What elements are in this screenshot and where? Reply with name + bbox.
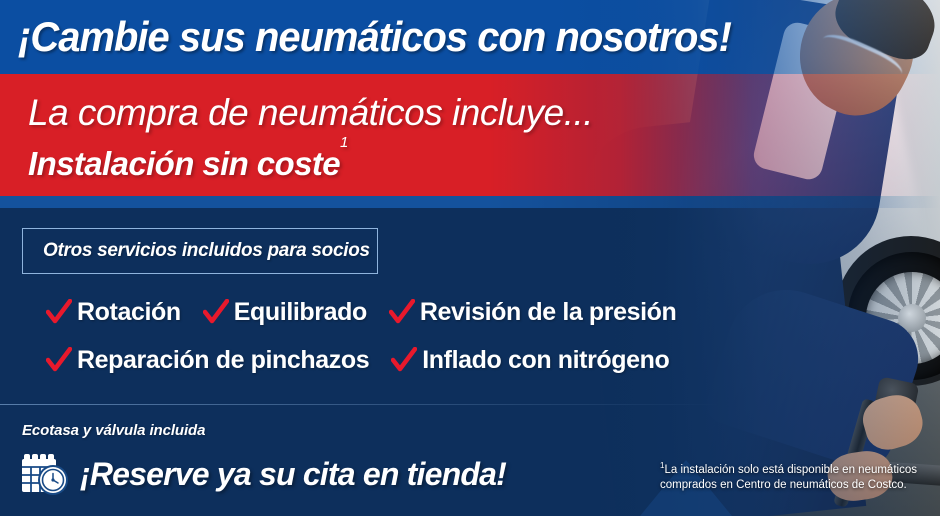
list-item-label: Inflado con nitrógeno (422, 346, 669, 375)
list-item-label: Rotación (77, 298, 181, 327)
offer-footnote-marker: 1 (340, 134, 348, 151)
offer-main-label: Instalación sin coste (28, 145, 340, 182)
page-title: ¡Cambie sus neumáticos con nosotros! (18, 12, 731, 62)
list-item-label: Revisión de la presión (420, 298, 677, 327)
list-item: Inflado con nitrógeno (391, 346, 669, 375)
offer-main: Instalación sin coste1 (28, 140, 348, 183)
services-row-2: Reparación de pinchazos Inflado con nitr… (46, 336, 706, 384)
check-icon (46, 299, 72, 325)
offer-subhead: La compra de neumáticos incluye... (28, 92, 593, 134)
list-item: Equilibrado (203, 298, 367, 327)
services-box-label: Otros servicios incluidos para socios (23, 229, 377, 273)
list-item: Reparación de pinchazos (46, 346, 369, 375)
list-item-label: Reparación de pinchazos (77, 346, 369, 375)
cta-block[interactable]: ¡Reserve ya su cita en tienda! (20, 450, 506, 498)
services-box: Otros servicios incluidos para socios (22, 228, 378, 274)
legal-text: La instalación solo está disponible en n… (660, 464, 917, 491)
tire-promo-advertisement: ¡Cambie sus neumáticos con nosotros! La … (0, 0, 940, 516)
calendar-clock-icon (20, 450, 70, 498)
list-item-label: Equilibrado (234, 298, 367, 327)
list-item: Rotación (46, 298, 181, 327)
accent-strip (0, 196, 940, 208)
check-icon (46, 347, 72, 373)
divider-line (0, 404, 720, 405)
check-icon (389, 299, 415, 325)
ecotasa-note: Ecotasa y válvula incluida (22, 422, 205, 439)
check-icon (391, 347, 417, 373)
legal-disclaimer: 1La instalación solo está disponible en … (660, 458, 935, 493)
services-row-1: Rotación Equilibrado Revisión de la pres… (46, 288, 706, 336)
services-list: Rotación Equilibrado Revisión de la pres… (46, 288, 706, 384)
cta-label: ¡Reserve ya su cita en tienda! (80, 456, 506, 493)
list-item: Revisión de la presión (389, 298, 677, 327)
check-icon (203, 299, 229, 325)
